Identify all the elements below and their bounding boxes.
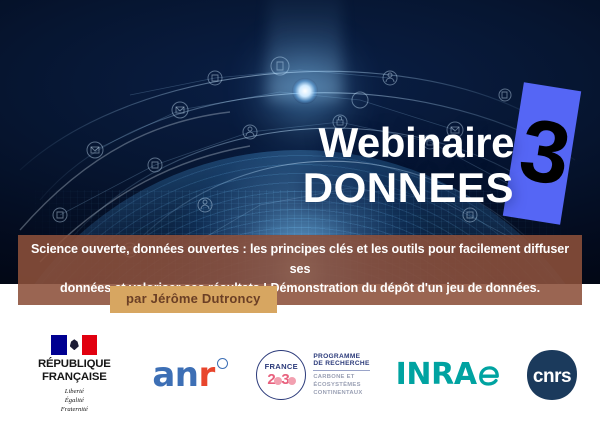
page-title: Webinaire DONNEES: [303, 122, 514, 211]
subtitle-line-2: données et valoriser ses résultats ! Dém…: [26, 279, 574, 299]
motto-egalite: Égalité: [22, 396, 126, 405]
partner-logo-row: RÉPUBLIQUE FRANÇAISE Liberté Égalité Fra…: [0, 284, 600, 424]
france-2030-year: 23: [267, 372, 295, 387]
year-zero-dot2-icon: [288, 377, 296, 385]
subtitle-line-1: Science ouverte, données ouvertes : les …: [26, 240, 574, 279]
subject-line-3: CONTINENTAUX: [313, 390, 369, 398]
logo-inrae: INRA: [396, 360, 500, 390]
globe-light-burst: [292, 78, 318, 104]
republique-name: RÉPUBLIQUE FRANÇAISE: [22, 358, 126, 384]
motto-liberte: Liberté: [22, 387, 126, 396]
motto-fraternite: Fraternité: [22, 405, 126, 414]
republique-line-2: FRANÇAISE: [22, 371, 126, 384]
logo-republique-francaise: RÉPUBLIQUE FRANÇAISE Liberté Égalité Fra…: [22, 335, 126, 415]
anr-wordmark: anr: [152, 355, 214, 395]
france-2030-caption: PROGRAMME DE RECHERCHE CARBONE ET ÉCOSYS…: [313, 352, 369, 397]
title-line-webinaire: Webinaire: [303, 122, 514, 164]
programme-line-2: DE RECHERCHE: [313, 360, 369, 368]
subject-line-2: ÉCOSYSTÈMES: [313, 382, 369, 390]
programme-heading: PROGRAMME DE RECHERCHE: [313, 353, 369, 372]
france-2030-france-text: FRANCE: [265, 363, 298, 371]
flag-band-blue: [51, 335, 66, 355]
subtitle-band: Science ouverte, données ouvertes : les …: [18, 235, 582, 305]
anr-letter-r: r: [198, 355, 214, 395]
inrae-wordmark: INRA: [396, 360, 477, 390]
cnrs-wordmark: cnrs: [533, 366, 571, 387]
author-band: par Jérôme Dutroncy: [110, 286, 277, 313]
inrae-stylized-e-icon: [478, 364, 500, 386]
france-2030-emblem-icon: FRANCE 23: [256, 350, 306, 400]
flag-band-red: [82, 335, 97, 355]
subject-line-1: CARBONE ET: [313, 374, 369, 382]
programme-line-1: PROGRAMME: [313, 353, 369, 361]
flag-band-white: [67, 335, 82, 355]
registered-mark-icon: [217, 358, 228, 369]
republique-motto: Liberté Égalité Fraternité: [22, 387, 126, 415]
title-line-donnees: DONNEES: [303, 166, 514, 211]
author-name: par Jérôme Dutroncy: [126, 291, 261, 306]
cnrs-emblem-icon: cnrs: [526, 349, 578, 401]
republique-line-1: RÉPUBLIQUE: [22, 358, 126, 371]
logo-france-2030: FRANCE 23 PROGRAMME DE RECHERCHE CARBONE…: [256, 350, 369, 400]
webinar-poster: 3 Webinaire DONNEES Science ouverte, don…: [0, 0, 600, 424]
anr-letters-an: an: [152, 355, 198, 395]
logo-cnrs: cnrs: [526, 349, 578, 401]
french-flag-marianne-icon: [51, 335, 97, 355]
programme-subject: CARBONE ET ÉCOSYSTÈMES CONTINENTAUX: [313, 374, 369, 397]
logo-anr: anr: [152, 355, 230, 395]
